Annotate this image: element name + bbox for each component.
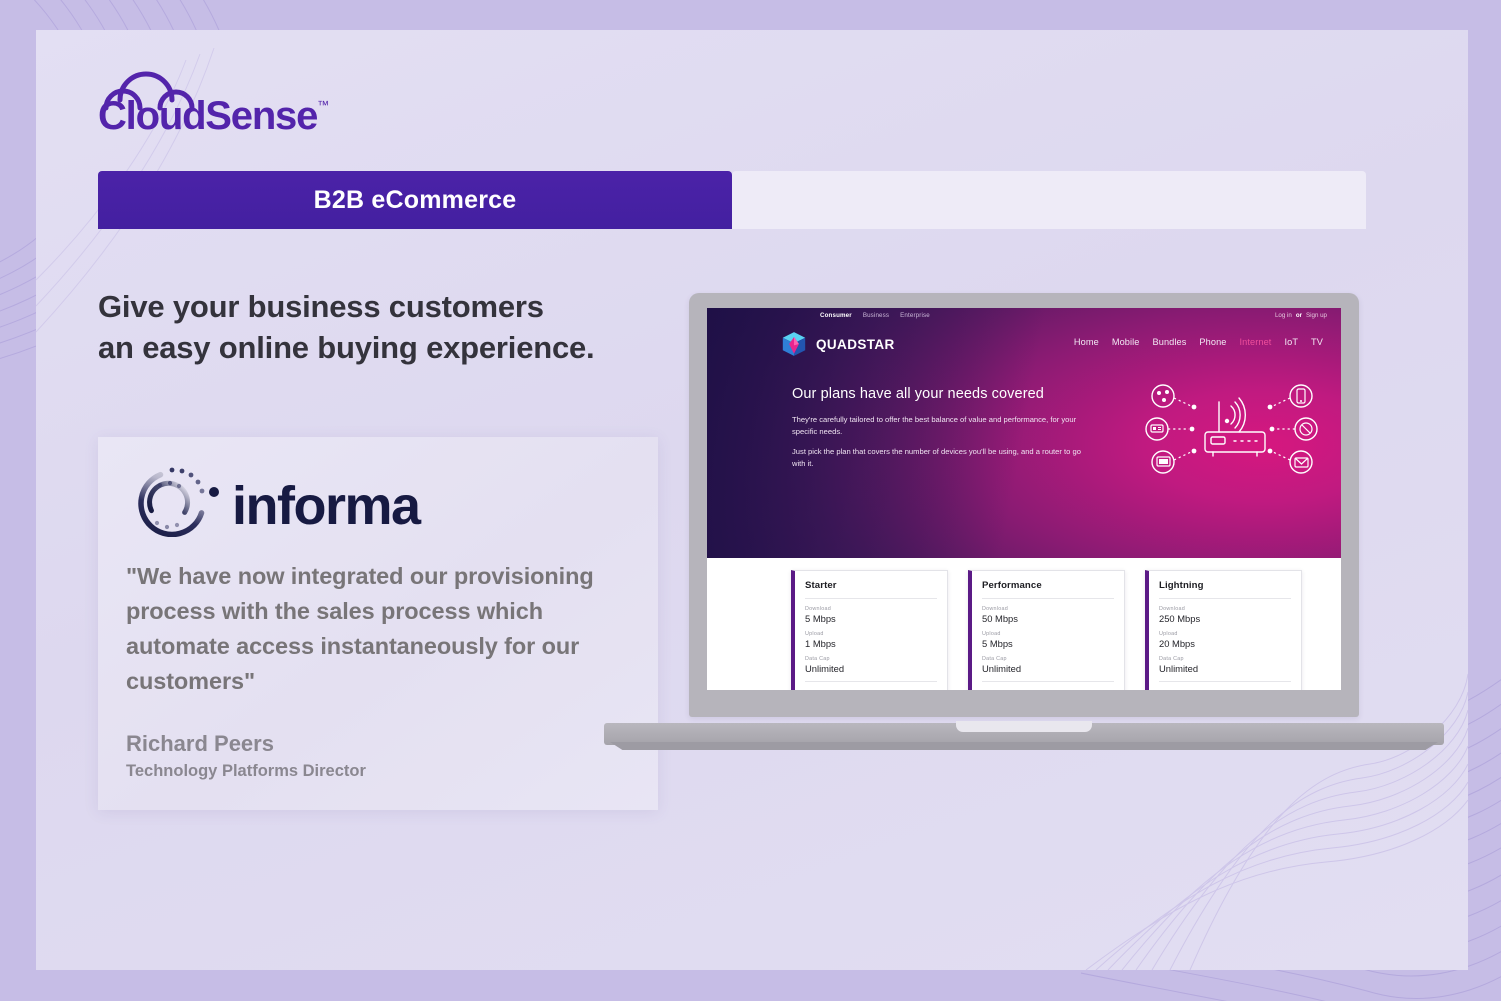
data-cap-value: Unlimited	[1159, 663, 1291, 674]
download-label: Download	[805, 606, 937, 612]
segment-nav: Consumer Business Enterprise	[820, 312, 930, 319]
data-cap-label: Data Cap	[805, 656, 937, 662]
divider	[805, 681, 937, 682]
upload-label: Upload	[805, 631, 937, 637]
plan-name: Lightning	[1159, 580, 1291, 591]
nav-internet[interactable]: Internet	[1240, 337, 1272, 347]
author-name: Richard Peers	[126, 729, 606, 759]
hero-paragraph-2: Just pick the plan that covers the numbe…	[792, 446, 1092, 469]
download-label: Download	[982, 606, 1114, 612]
data-cap-value: Unlimited	[982, 663, 1114, 674]
nav-tv[interactable]: TV	[1311, 337, 1323, 347]
quadstar-cube-icon	[780, 330, 808, 358]
trademark-mark: ™	[317, 98, 329, 112]
divider	[1159, 598, 1291, 599]
divider	[982, 681, 1114, 682]
tab-bar: B2B eCommerce	[98, 171, 1366, 229]
informa-logo: informa	[124, 461, 464, 537]
hero-copy: Our plans have all your needs covered Th…	[792, 386, 1092, 478]
author-role: Technology Platforms Director	[126, 759, 606, 783]
laptop-screen: Consumer Business Enterprise Log in or S…	[707, 308, 1341, 690]
plan-name: Starter	[805, 580, 937, 591]
site-main-nav: QUADSTAR Home Mobile Bundles Phone Inter…	[707, 326, 1341, 360]
laptop-trackpad-notch	[956, 721, 1092, 732]
price-row: $49.95 /mo.	[982, 689, 1114, 690]
nav-links: Home Mobile Bundles Phone Internet IoT T…	[1074, 337, 1323, 347]
upload-value: 5 Mbps	[982, 638, 1114, 649]
informa-swirl-icon	[131, 466, 219, 537]
plan-name: Performance	[982, 580, 1114, 591]
download-value: 5 Mbps	[805, 613, 937, 624]
nav-iot[interactable]: IoT	[1284, 337, 1298, 347]
download-value: 250 Mbps	[1159, 613, 1291, 624]
tab-label: B2B eCommerce	[314, 186, 517, 215]
nav-bundles[interactable]: Bundles	[1153, 337, 1187, 347]
hero-title: Our plans have all your needs covered	[792, 386, 1092, 402]
plan-card-starter[interactable]: Starter Download 5 Mbps Upload 1 Mbps Da…	[791, 570, 948, 690]
testimonial-quote: "We have now integrated our provisioning…	[126, 559, 626, 699]
plan-card-performance[interactable]: Performance Download 50 Mbps Upload 5 Mb…	[968, 570, 1125, 690]
plan-cards: Starter Download 5 Mbps Upload 1 Mbps Da…	[791, 570, 1303, 690]
hero-paragraph-1: They're carefully tailored to offer the …	[792, 414, 1092, 437]
or-separator: or	[1296, 312, 1302, 319]
quadstar-name: QUADSTAR	[816, 337, 895, 352]
price-row: $129.95 /mo.	[1159, 689, 1291, 690]
laptop-mockup: Consumer Business Enterprise Log in or S…	[604, 293, 1444, 750]
download-value: 50 Mbps	[982, 613, 1114, 624]
upload-label: Upload	[982, 631, 1114, 637]
price-row: $29.95 /mo.	[805, 689, 937, 690]
site-utility-bar: Consumer Business Enterprise Log in or S…	[707, 308, 1341, 326]
divider	[805, 598, 937, 599]
nav-mobile[interactable]: Mobile	[1112, 337, 1140, 347]
cloudsense-logo: CloudSense ™	[98, 66, 398, 138]
testimonial-author: Richard Peers Technology Platforms Direc…	[126, 729, 606, 783]
nav-home[interactable]: Home	[1074, 337, 1099, 347]
account-links: Log in or Sign up	[1275, 312, 1327, 319]
segment-business[interactable]: Business	[863, 312, 889, 319]
upload-value: 1 Mbps	[805, 638, 937, 649]
upload-value: 20 Mbps	[1159, 638, 1291, 649]
testimonial-card: informa "We have now integrated our prov…	[98, 437, 658, 810]
data-cap-value: Unlimited	[805, 663, 937, 674]
divider	[1159, 681, 1291, 682]
segment-enterprise[interactable]: Enterprise	[900, 312, 930, 319]
informa-wordmark: informa	[232, 476, 422, 536]
tab-b2b-ecommerce[interactable]: B2B eCommerce	[98, 171, 732, 229]
plan-card-lightning[interactable]: Lightning Download 250 Mbps Upload 20 Mb…	[1145, 570, 1302, 690]
data-cap-label: Data Cap	[1159, 656, 1291, 662]
router-devices-diagram	[1143, 376, 1321, 484]
signup-link[interactable]: Sign up	[1306, 312, 1327, 319]
data-cap-label: Data Cap	[982, 656, 1114, 662]
download-label: Download	[1159, 606, 1291, 612]
login-link[interactable]: Log in	[1275, 312, 1292, 319]
segment-consumer[interactable]: Consumer	[820, 312, 852, 319]
cloudsense-wordmark: CloudSense	[98, 94, 317, 139]
laptop-base-edge	[610, 742, 1438, 750]
nav-phone[interactable]: Phone	[1199, 337, 1226, 347]
tab-empty[interactable]	[732, 171, 1366, 229]
quadstar-brand[interactable]: QUADSTAR	[780, 330, 895, 358]
upload-label: Upload	[1159, 631, 1291, 637]
divider	[982, 598, 1114, 599]
quadstar-website: Consumer Business Enterprise Log in or S…	[707, 308, 1341, 690]
